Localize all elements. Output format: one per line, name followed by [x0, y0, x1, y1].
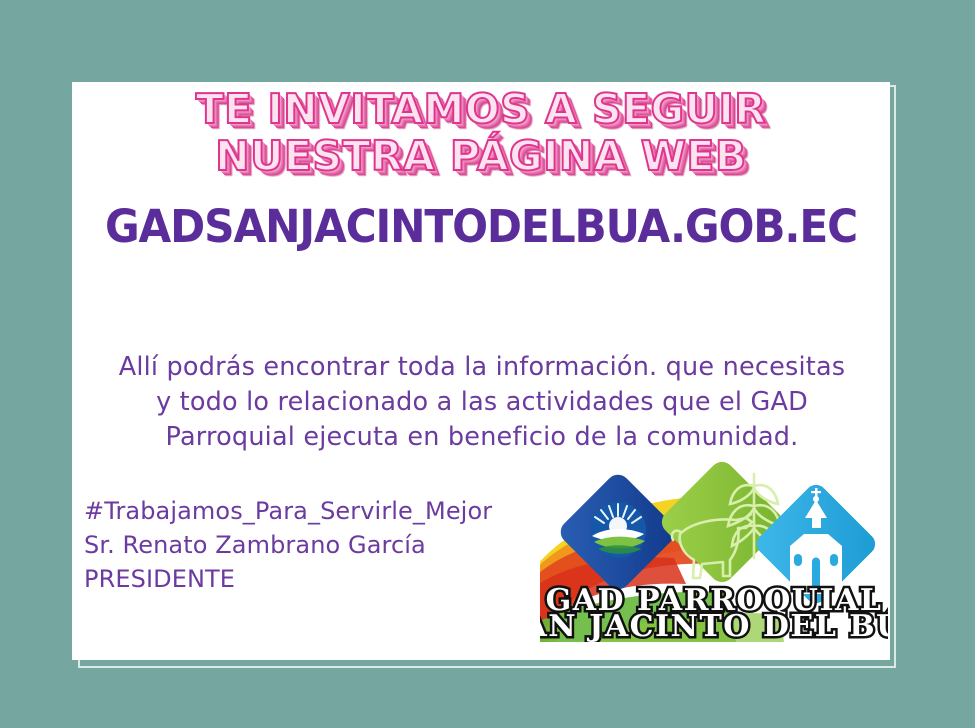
headline-line-2: NUESTRA PÁGINA WEB	[72, 133, 890, 180]
poster-canvas: TE INVITAMOS A SEGUIR NUESTRA PÁGINA WEB…	[0, 0, 975, 728]
river-sun-emblem-icon	[590, 502, 646, 558]
hashtag-text: #Trabajamos_Para_Servirle_Mejor	[84, 494, 492, 528]
body-line-2: y todo lo relacionado a las actividades …	[82, 385, 882, 420]
poster-card: TE INVITAMOS A SEGUIR NUESTRA PÁGINA WEB…	[72, 82, 890, 660]
president-name: Sr. Renato Zambrano García	[84, 528, 492, 562]
president-role: PRESIDENTE	[84, 562, 492, 596]
gad-parroquial-logo: GAD PARROQUIAL SAN JACINTO DEL BÚA	[540, 460, 888, 642]
signature-block: #Trabajamos_Para_Servirle_Mejor Sr. Rena…	[84, 494, 492, 596]
website-url[interactable]: GADSANJACINTODELBUA.GOB.EC	[97, 201, 866, 253]
body-line-3: Parroquial ejecuta en beneficio de la co…	[82, 420, 882, 455]
body-line-1: Allí podrás encontrar toda la informació…	[82, 350, 882, 385]
headline: TE INVITAMOS A SEGUIR NUESTRA PÁGINA WEB	[72, 86, 890, 180]
logo-title-line-2: SAN JACINTO DEL BÚA	[540, 608, 888, 642]
body-paragraph: Allí podrás encontrar toda la informació…	[82, 350, 882, 455]
headline-line-1: TE INVITAMOS A SEGUIR	[72, 86, 890, 133]
logo-wordmark: GAD PARROQUIAL SAN JACINTO DEL BÚA	[540, 583, 888, 642]
